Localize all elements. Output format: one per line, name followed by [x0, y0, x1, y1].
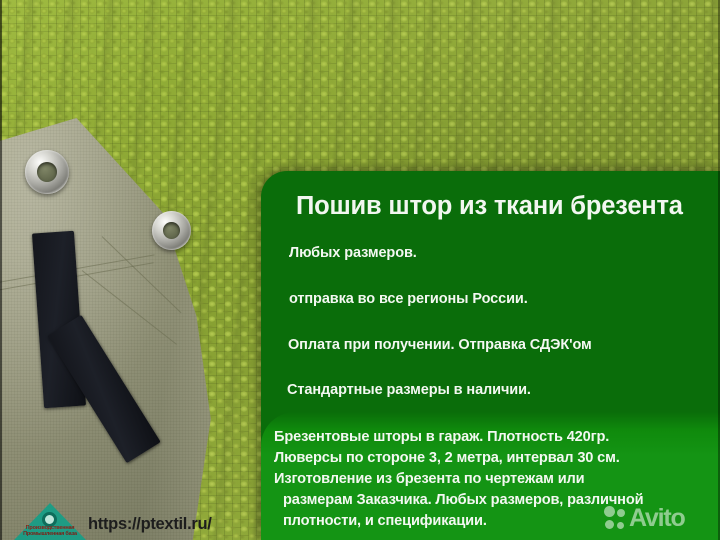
company-logo: Производственная Промышленная база: [14, 503, 86, 540]
description-line-5: плотности, и спецификации.: [274, 511, 714, 532]
description-line-3: Изготовление из брезента по чертежам или: [274, 469, 714, 490]
description-text: Брезентовые шторы в гараж. Плотность 420…: [274, 427, 714, 532]
site-url-text: https://ptextil.ru/: [88, 515, 212, 534]
description-line-1: Брезентовые шторы в гараж. Плотность 420…: [274, 427, 714, 448]
listing-photo: Пошив штор из ткани брезента Любых разме…: [0, 0, 720, 540]
grommet-icon: [152, 211, 191, 250]
description-line-4: размерам Заказчика. Любых размеров, разл…: [274, 490, 714, 511]
bullet-item-3: Оплата при получении. Отправка СДЭК'ом: [288, 337, 592, 353]
headline-text: Пошив штор из ткани брезента: [296, 192, 716, 220]
bullet-item-1: Любых размеров.: [289, 245, 417, 261]
grommet-icon: [25, 150, 69, 194]
description-line-2: Люверсы по стороне 3, 2 метра, интервал …: [274, 448, 714, 469]
photo-left-edge: [0, 0, 2, 540]
bullet-item-4: Стандартные размеры в наличии.: [287, 382, 531, 398]
logo-wordmark-line-2: Промышленная база: [23, 531, 77, 537]
bullet-item-2: отправка во все регионы России.: [289, 291, 528, 307]
logo-wordmark: Производственная Промышленная база: [16, 525, 84, 537]
